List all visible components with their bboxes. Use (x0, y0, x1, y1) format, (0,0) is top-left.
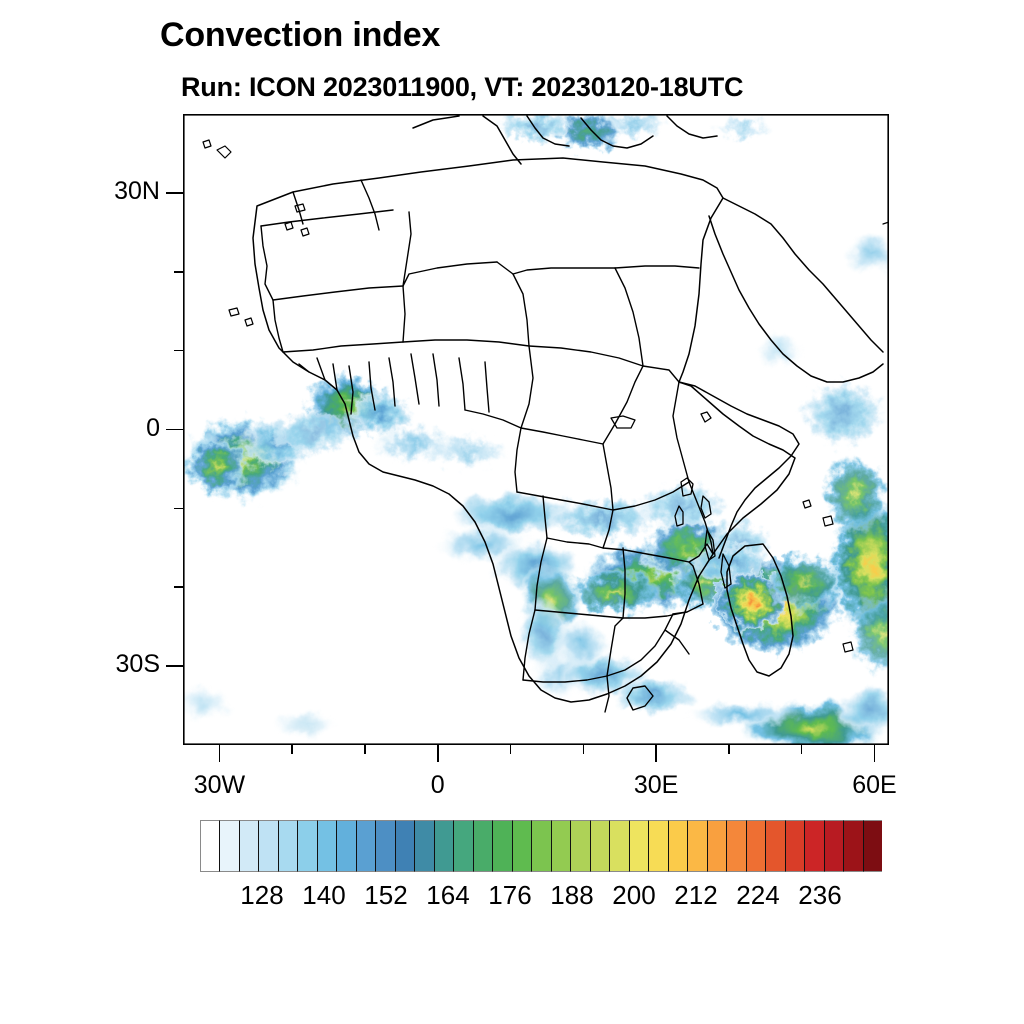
x-minor-tick (364, 745, 366, 754)
colorbar-cell[interactable] (746, 820, 765, 872)
colorbar-cell[interactable] (824, 820, 843, 872)
colorbar-cell[interactable] (590, 820, 609, 872)
colorbar-cell[interactable] (453, 820, 472, 872)
x-axis-tick-label: 30W (159, 771, 279, 800)
x-major-tick (655, 745, 657, 762)
colorbar-cell[interactable] (726, 820, 745, 872)
colorbar-cell[interactable] (629, 820, 648, 872)
colorbar-cell[interactable] (512, 820, 531, 872)
figure-subtitle: Run: ICON 2023011900, VT: 20230120-18UTC (181, 72, 743, 103)
y-major-tick (166, 429, 183, 431)
colorbar-cell[interactable] (785, 820, 804, 872)
colorbar[interactable] (200, 820, 882, 872)
colorbar-cell[interactable] (278, 820, 297, 872)
colorbar-cell[interactable] (551, 820, 570, 872)
colorbar-cell[interactable] (863, 820, 882, 872)
colorbar-cell[interactable] (414, 820, 433, 872)
colorbar-cell[interactable] (765, 820, 784, 872)
colorbar-cell[interactable] (492, 820, 511, 872)
colorbar-cell[interactable] (668, 820, 687, 872)
x-axis-tick-label: 60E (814, 771, 934, 800)
colorbar-cell[interactable] (648, 820, 667, 872)
x-minor-tick (801, 745, 803, 754)
colorbar-cell[interactable] (570, 820, 589, 872)
colorbar-cell[interactable] (258, 820, 277, 872)
x-major-tick (437, 745, 439, 762)
y-minor-tick (174, 508, 183, 510)
colorbar-cell[interactable] (336, 820, 355, 872)
x-minor-tick (583, 745, 585, 754)
colorbar-cell[interactable] (687, 820, 706, 872)
y-minor-tick (174, 350, 183, 352)
x-axis-tick-label: 0 (378, 771, 498, 800)
map-svg (183, 114, 889, 745)
y-axis-tick-label: 30N (70, 177, 160, 206)
colorbar-cell[interactable] (200, 820, 219, 872)
x-axis-tick-label: 30E (596, 771, 716, 800)
colorbar-cell[interactable] (219, 820, 238, 872)
x-minor-tick (291, 745, 293, 754)
colorbar-cell[interactable] (375, 820, 394, 872)
colorbar-cell[interactable] (317, 820, 336, 872)
colorbar-cell[interactable] (395, 820, 414, 872)
x-major-tick (874, 745, 876, 762)
map-plot-area[interactable] (183, 114, 889, 745)
colorbar-tick-label: 236 (770, 880, 870, 911)
colorbar-cell[interactable] (297, 820, 316, 872)
colorbar-cell[interactable] (804, 820, 823, 872)
colorbar-cell[interactable] (434, 820, 453, 872)
page-title: Convection index (160, 16, 440, 55)
y-major-tick (166, 192, 183, 194)
y-minor-tick (174, 271, 183, 273)
x-major-tick (219, 745, 221, 762)
colorbar-cell[interactable] (843, 820, 862, 872)
y-major-tick (166, 665, 183, 667)
colorbar-cell[interactable] (531, 820, 550, 872)
colorbar-cell[interactable] (356, 820, 375, 872)
colorbar-cell[interactable] (707, 820, 726, 872)
y-axis-tick-label: 0 (70, 414, 160, 443)
x-minor-tick (728, 745, 730, 754)
y-axis-tick-label: 30S (70, 650, 160, 679)
y-minor-tick (174, 586, 183, 588)
colorbar-cell[interactable] (473, 820, 492, 872)
x-minor-tick (510, 745, 512, 754)
colorbar-cell[interactable] (239, 820, 258, 872)
colorbar-cell[interactable] (609, 820, 628, 872)
figure-root: Convection index Run: ICON 2023011900, V… (0, 0, 1024, 1024)
